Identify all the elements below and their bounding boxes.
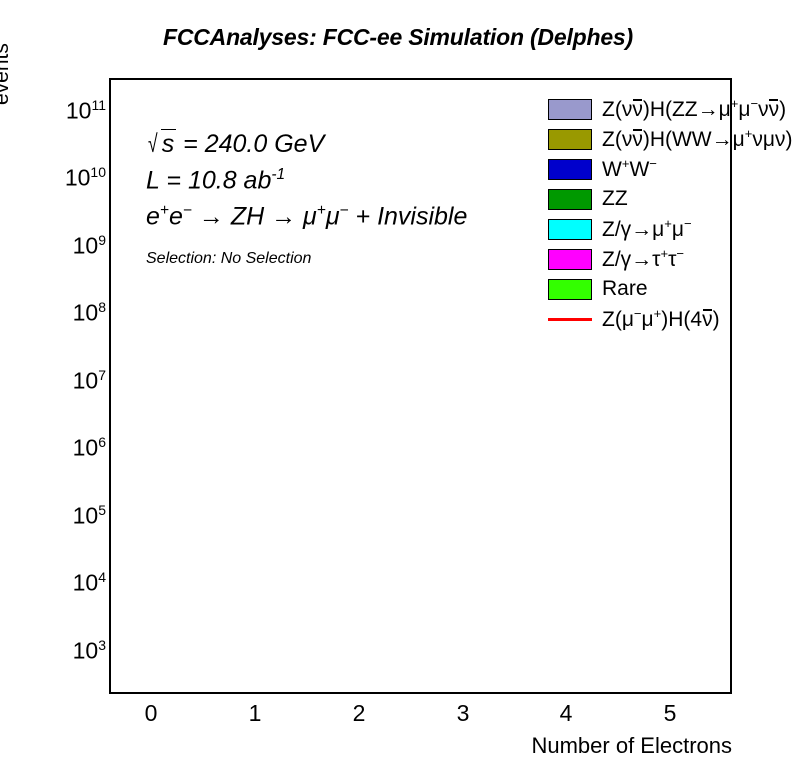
x-axis-title: Number of Electrons — [531, 733, 732, 759]
legend-label-ww: W+W− — [602, 156, 657, 182]
annotation-luminosity-exp: -1 — [271, 166, 285, 183]
y-tick-label-1e10: 1010 — [64, 164, 106, 192]
x-tick-label-1: 1 — [235, 700, 275, 727]
legend-item-zz[interactable]: ZZ — [548, 184, 796, 214]
y-tick-label-1e9: 109 — [64, 232, 106, 260]
annotation-luminosity-text: L = 10.8 ab — [146, 166, 271, 194]
legend-swatch-zgamma-mumu — [548, 219, 592, 240]
legend: Z(νν)H(ZZ→μ+μ−νν) Z(νν)H(WW→μ+νμν) W+W− … — [548, 94, 796, 334]
legend-label-rare: Rare — [602, 277, 648, 301]
annotation-luminosity: L = 10.8 ab-1 — [146, 166, 285, 195]
legend-label-zgamma-tautau: Z/γ→τ+τ− — [602, 246, 684, 272]
y-tick-label-1e5: 105 — [64, 502, 106, 530]
page-title: FCCAnalyses: FCC-ee Simulation (Delphes) — [0, 24, 796, 51]
legend-item-zgamma-mumu[interactable]: Z/γ→μ+μ− — [548, 214, 796, 244]
y-tick-label-1e7: 107 — [64, 367, 106, 395]
legend-label-zvvhww: Z(νν)H(WW→μ+νμν) — [602, 126, 792, 152]
legend-item-ww[interactable]: W+W− — [548, 154, 796, 184]
y-tick-label-1e8: 108 — [64, 299, 106, 327]
legend-swatch-ww — [548, 159, 592, 180]
legend-swatch-zz — [548, 189, 592, 210]
y-tick-label-1e4: 104 — [64, 569, 106, 597]
legend-swatch-zvvhww — [548, 129, 592, 150]
annotation-energy-value: = 240.0 GeV — [176, 130, 324, 158]
legend-item-zvvhzz[interactable]: Z(νν)H(ZZ→μ+μ−νν) — [548, 94, 796, 124]
annotation-process: e+e− → ZH → μ+μ− + Invisible — [146, 202, 467, 231]
x-tick-label-3: 3 — [443, 700, 483, 727]
legend-line-signal — [548, 318, 592, 321]
annotation-energy-sqrt-s: s — [161, 129, 177, 159]
legend-item-zgamma-tautau[interactable]: Z/γ→τ+τ− — [548, 244, 796, 274]
y-tick-label-1e11: 1011 — [64, 97, 106, 125]
x-tick-label-2: 2 — [339, 700, 379, 727]
y-tick-label-1e3: 103 — [64, 637, 106, 665]
legend-swatch-zgamma-tautau — [548, 249, 592, 270]
annotation-energy: √s = 240.0 GeV — [146, 129, 324, 159]
y-axis-title: events — [0, 43, 14, 105]
legend-label-zgamma-mumu: Z/γ→μ+μ− — [602, 216, 692, 242]
legend-label-signal: Z(μ−μ+)H(4ν) — [602, 306, 720, 332]
legend-swatch-rare — [548, 279, 592, 300]
x-tick-label-0: 0 — [131, 700, 171, 727]
legend-item-rare[interactable]: Rare — [548, 274, 796, 304]
annotation-selection: Selection: No Selection — [146, 250, 311, 268]
x-tick-label-5: 5 — [650, 700, 690, 727]
legend-label-zvvhzz: Z(νν)H(ZZ→μ+μ−νν) — [602, 96, 786, 122]
legend-label-zz: ZZ — [602, 187, 628, 211]
y-tick-label-1e6: 106 — [64, 434, 106, 462]
legend-swatch-zvvhzz — [548, 99, 592, 120]
x-tick-label-4: 4 — [546, 700, 586, 727]
legend-item-zvvhww[interactable]: Z(νν)H(WW→μ+νμν) — [548, 124, 796, 154]
legend-item-signal[interactable]: Z(μ−μ+)H(4ν) — [548, 304, 796, 334]
